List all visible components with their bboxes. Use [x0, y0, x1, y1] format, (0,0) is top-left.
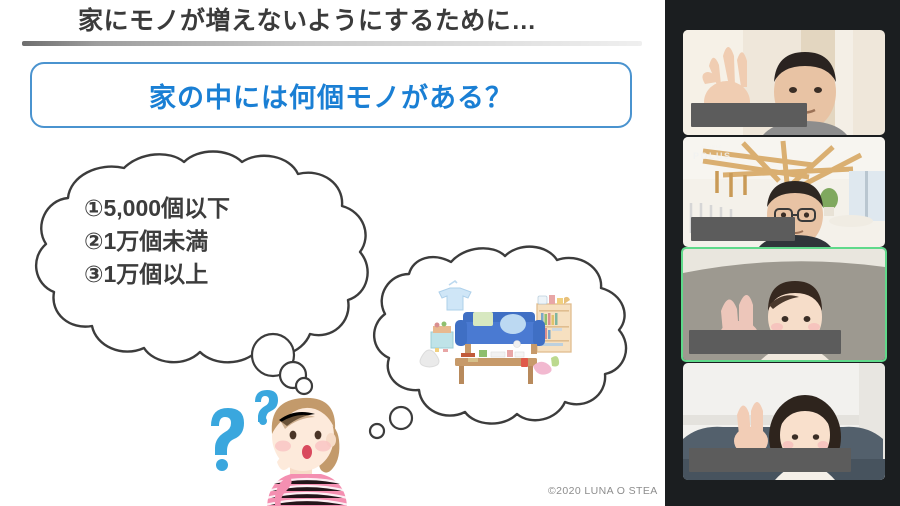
thought-bubble-living-room: [355, 240, 655, 440]
option-item-3: ③1万個以上: [84, 258, 364, 291]
participant-2-name-redaction: [691, 217, 795, 241]
video-participants-panel: HOUSING POLUS: [665, 0, 900, 506]
copyright-notice: ©2020 LUNA O STEA: [548, 485, 658, 497]
toy-box-icon: [431, 322, 453, 353]
question-text: 家の中には何個モノがある？: [149, 76, 513, 115]
slide-title: 家にモノが増えないようにするために…: [78, 4, 638, 38]
question-callout-box: 家の中には何個モノがある？: [30, 62, 632, 128]
participant-3-name-redaction: [689, 330, 841, 354]
presentation-slide: 家にモノが増えないようにするために… 家の中には何個モノがある？ ①5,000個…: [0, 0, 665, 506]
screen-share-view: 家にモノが増えないようにするために… 家の中には何個モノがある？ ①5,000個…: [0, 0, 900, 506]
video-tile-participant-2[interactable]: HOUSING POLUS: [683, 137, 885, 247]
bubble-cloud-shape-right: [355, 240, 655, 440]
puzzled-woman-character: [205, 380, 360, 506]
title-divider: [22, 41, 642, 46]
participant-1-name-redaction: [691, 103, 807, 127]
video-tile-participant-3[interactable]: [683, 249, 885, 360]
question-mark-icon: [211, 390, 278, 471]
character-illustration: [205, 380, 360, 506]
option-item-2: ②1万個未満: [84, 225, 364, 258]
polus-watermark: HOUSING POLUS: [693, 143, 732, 161]
option-item-1: ①5,000個以下: [84, 192, 364, 225]
options-list: ①5,000個以下 ②1万個未満 ③1万個以上: [84, 192, 364, 291]
video-tile-participant-1[interactable]: [683, 30, 885, 135]
video-tile-participant-4[interactable]: [683, 363, 885, 480]
participant-4-name-redaction: [689, 448, 851, 472]
